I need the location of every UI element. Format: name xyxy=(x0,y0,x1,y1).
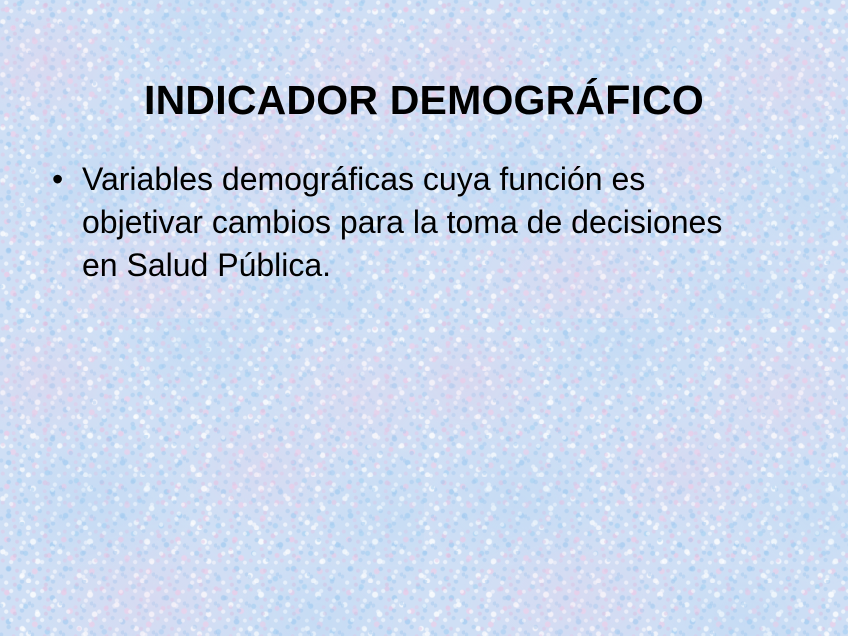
slide-content: INDICADOR DEMOGRÁFICO • Variables demogr… xyxy=(0,0,848,636)
slide-body: • Variables demográficas cuya función es… xyxy=(44,158,804,287)
bullet-list-item: • Variables demográficas cuya función es… xyxy=(44,158,804,287)
presentation-slide: INDICADOR DEMOGRÁFICO • Variables demogr… xyxy=(0,0,848,636)
bullet-point-icon: • xyxy=(44,158,82,201)
bullet-text-line-3: en Salud Pública. xyxy=(82,244,782,287)
bullet-text-line-2: objetivar cambios para la toma de decisi… xyxy=(82,201,782,244)
bullet-text: Variables demográficas cuya función es o… xyxy=(82,158,782,287)
slide-title: INDICADOR DEMOGRÁFICO xyxy=(0,77,848,124)
bullet-text-line-1: Variables demográficas cuya función es xyxy=(82,158,782,201)
